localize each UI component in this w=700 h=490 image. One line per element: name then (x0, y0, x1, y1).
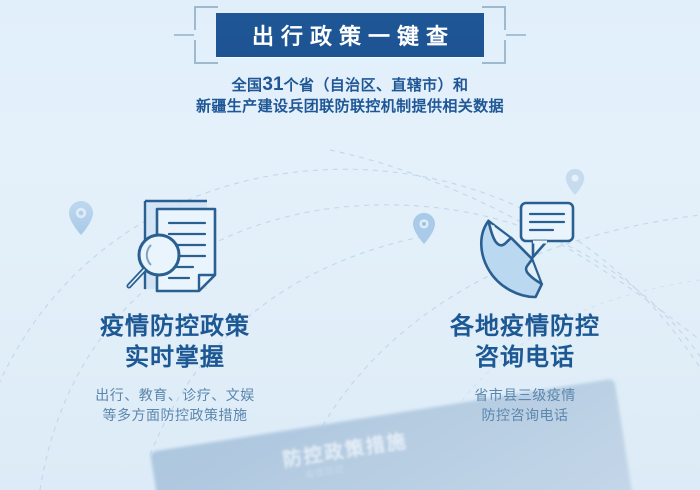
feature-title-line-1: 疫情防控政策 (100, 311, 250, 342)
title-banner-wrap: 出行政策一键查 (180, 4, 520, 66)
bracket-bottom-right-icon (482, 40, 506, 64)
bracket-top-left-icon (194, 6, 218, 30)
feature-card-hotline[interactable]: 各地疫情防控 咨询电话 省市县三级疫情 防控咨询电话 (350, 185, 700, 425)
subtitle-line-2: 新疆生产建设兵团联防联控机制提供相关数据 (0, 96, 700, 117)
feature-columns: 疫情防控政策 实时掌握 出行、教育、诊疗、文娱 等多方面防控政策措施 (0, 185, 700, 425)
subtitle-suffix: 个省（自治区、直辖市）和 (284, 77, 469, 94)
feature-desc-line-1: 出行、教育、诊疗、文娱 (95, 385, 255, 405)
page-title: 出行政策一键查 (245, 19, 455, 51)
bracket-top-right-icon (482, 6, 506, 30)
province-count: 31 (262, 74, 283, 95)
dash-right-icon (506, 34, 526, 36)
subtitle: 全国31个省（自治区、直辖市）和 新疆生产建设兵团联防联控机制提供相关数据 (0, 74, 700, 117)
page-title-banner: 出行政策一键查 (216, 13, 484, 57)
feature-desc-hotline: 省市县三级疫情 防控咨询电话 (474, 385, 576, 425)
header: 出行政策一键查 全国31个省（自治区、直辖市）和 新疆生产建设兵团联防联控机制提… (0, 0, 700, 117)
feature-desc-line-1: 省市县三级疫情 (474, 385, 576, 405)
subtitle-prefix: 全国 (232, 77, 263, 94)
feature-desc-line-2: 等多方面防控政策措施 (95, 405, 255, 425)
bracket-bottom-left-icon (194, 40, 218, 64)
feature-desc-line-2: 防控咨询电话 (474, 405, 576, 425)
poster-root: 防控政策措施 疫情防控 出行政策一键查 全国31个省（自治区、直辖市）和 新疆生… (0, 0, 700, 490)
subtitle-line-1: 全国31个省（自治区、直辖市）和 (0, 74, 700, 96)
feature-title-line-2: 实时掌握 (100, 342, 250, 373)
feature-desc-policy: 出行、教育、诊疗、文娱 等多方面防控政策措施 (95, 385, 255, 425)
feature-title-hotline: 各地疫情防控 咨询电话 (450, 311, 600, 373)
document-magnifier-icon (115, 185, 235, 305)
feature-title-line-2: 咨询电话 (450, 342, 600, 373)
feature-card-policy[interactable]: 疫情防控政策 实时掌握 出行、教育、诊疗、文娱 等多方面防控政策措施 (0, 185, 350, 425)
feature-title-line-1: 各地疫情防控 (450, 311, 600, 342)
phone-chat-icon (465, 185, 585, 305)
feature-title-policy: 疫情防控政策 实时掌握 (100, 311, 250, 373)
dash-left-icon (174, 34, 194, 36)
